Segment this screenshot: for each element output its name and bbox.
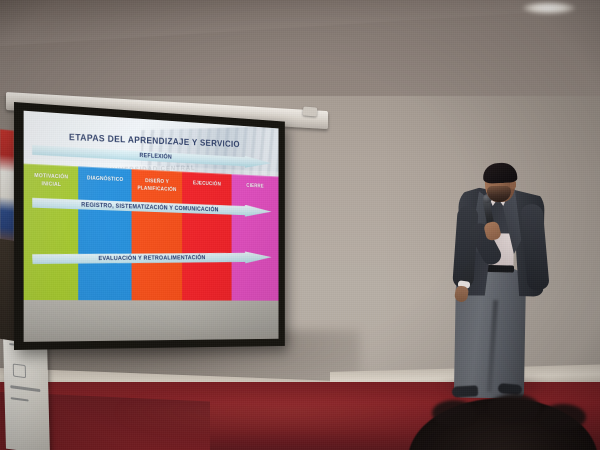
audience-hair-tuft — [488, 394, 540, 422]
floor-light-sheen — [120, 388, 460, 436]
stage-block-ejecucion: EJECUCIÓN — [182, 172, 231, 301]
presentation-room-photo: UNIVERSIDAD CENTRAL ETAPAS DEL APRENDIZA… — [0, 0, 600, 450]
audience-hair-tuft — [540, 404, 586, 430]
slide-content: UNIVERSIDAD CENTRAL ETAPAS DEL APRENDIZA… — [24, 111, 279, 301]
presenter-shoe-left — [452, 385, 479, 397]
stage-block-diagnostico: DIAGNÓSTICO — [79, 167, 132, 301]
stage-label: CIERRE — [246, 183, 265, 191]
poster-text-line — [11, 397, 29, 401]
projector-screen-surface: UNIVERSIDAD CENTRAL ETAPAS DEL APRENDIZA… — [24, 111, 279, 342]
stage-label: DISEÑO Y PLANIFICACIÓN — [131, 178, 182, 194]
stage-top-highlight — [79, 162, 132, 171]
stage-block-diseno-y-planificacion: DISEÑO Y PLANIFICACIÓN — [131, 169, 182, 300]
presenter-hair — [482, 162, 517, 184]
stage-label: MOTIVACIÓN INICIAL — [24, 173, 79, 190]
projector-screen-bracket — [303, 106, 318, 116]
stage-band: MOTIVACIÓN INICIAL DIAGNÓSTICO DISEÑO Y … — [24, 164, 279, 301]
stage-top-highlight — [24, 159, 79, 168]
screen-blank-area — [24, 300, 279, 342]
stage-top-highlight — [231, 170, 278, 178]
ceiling-light-icon — [523, 2, 575, 14]
projector-screen-frame: UNIVERSIDAD CENTRAL ETAPAS DEL APRENDIZA… — [14, 102, 285, 350]
stage-label: EJECUCIÓN — [192, 181, 222, 189]
stage-top-highlight — [182, 167, 231, 175]
poster-logo-icon — [13, 363, 26, 378]
poster-text-line — [10, 385, 40, 392]
stage-label: DIAGNÓSTICO — [86, 176, 124, 185]
stage-block-cierre: CIERRE — [231, 174, 278, 301]
stage-block-motivacion-inicial: MOTIVACIÓN INICIAL — [24, 164, 79, 301]
audience-hair-tuft — [432, 400, 476, 426]
